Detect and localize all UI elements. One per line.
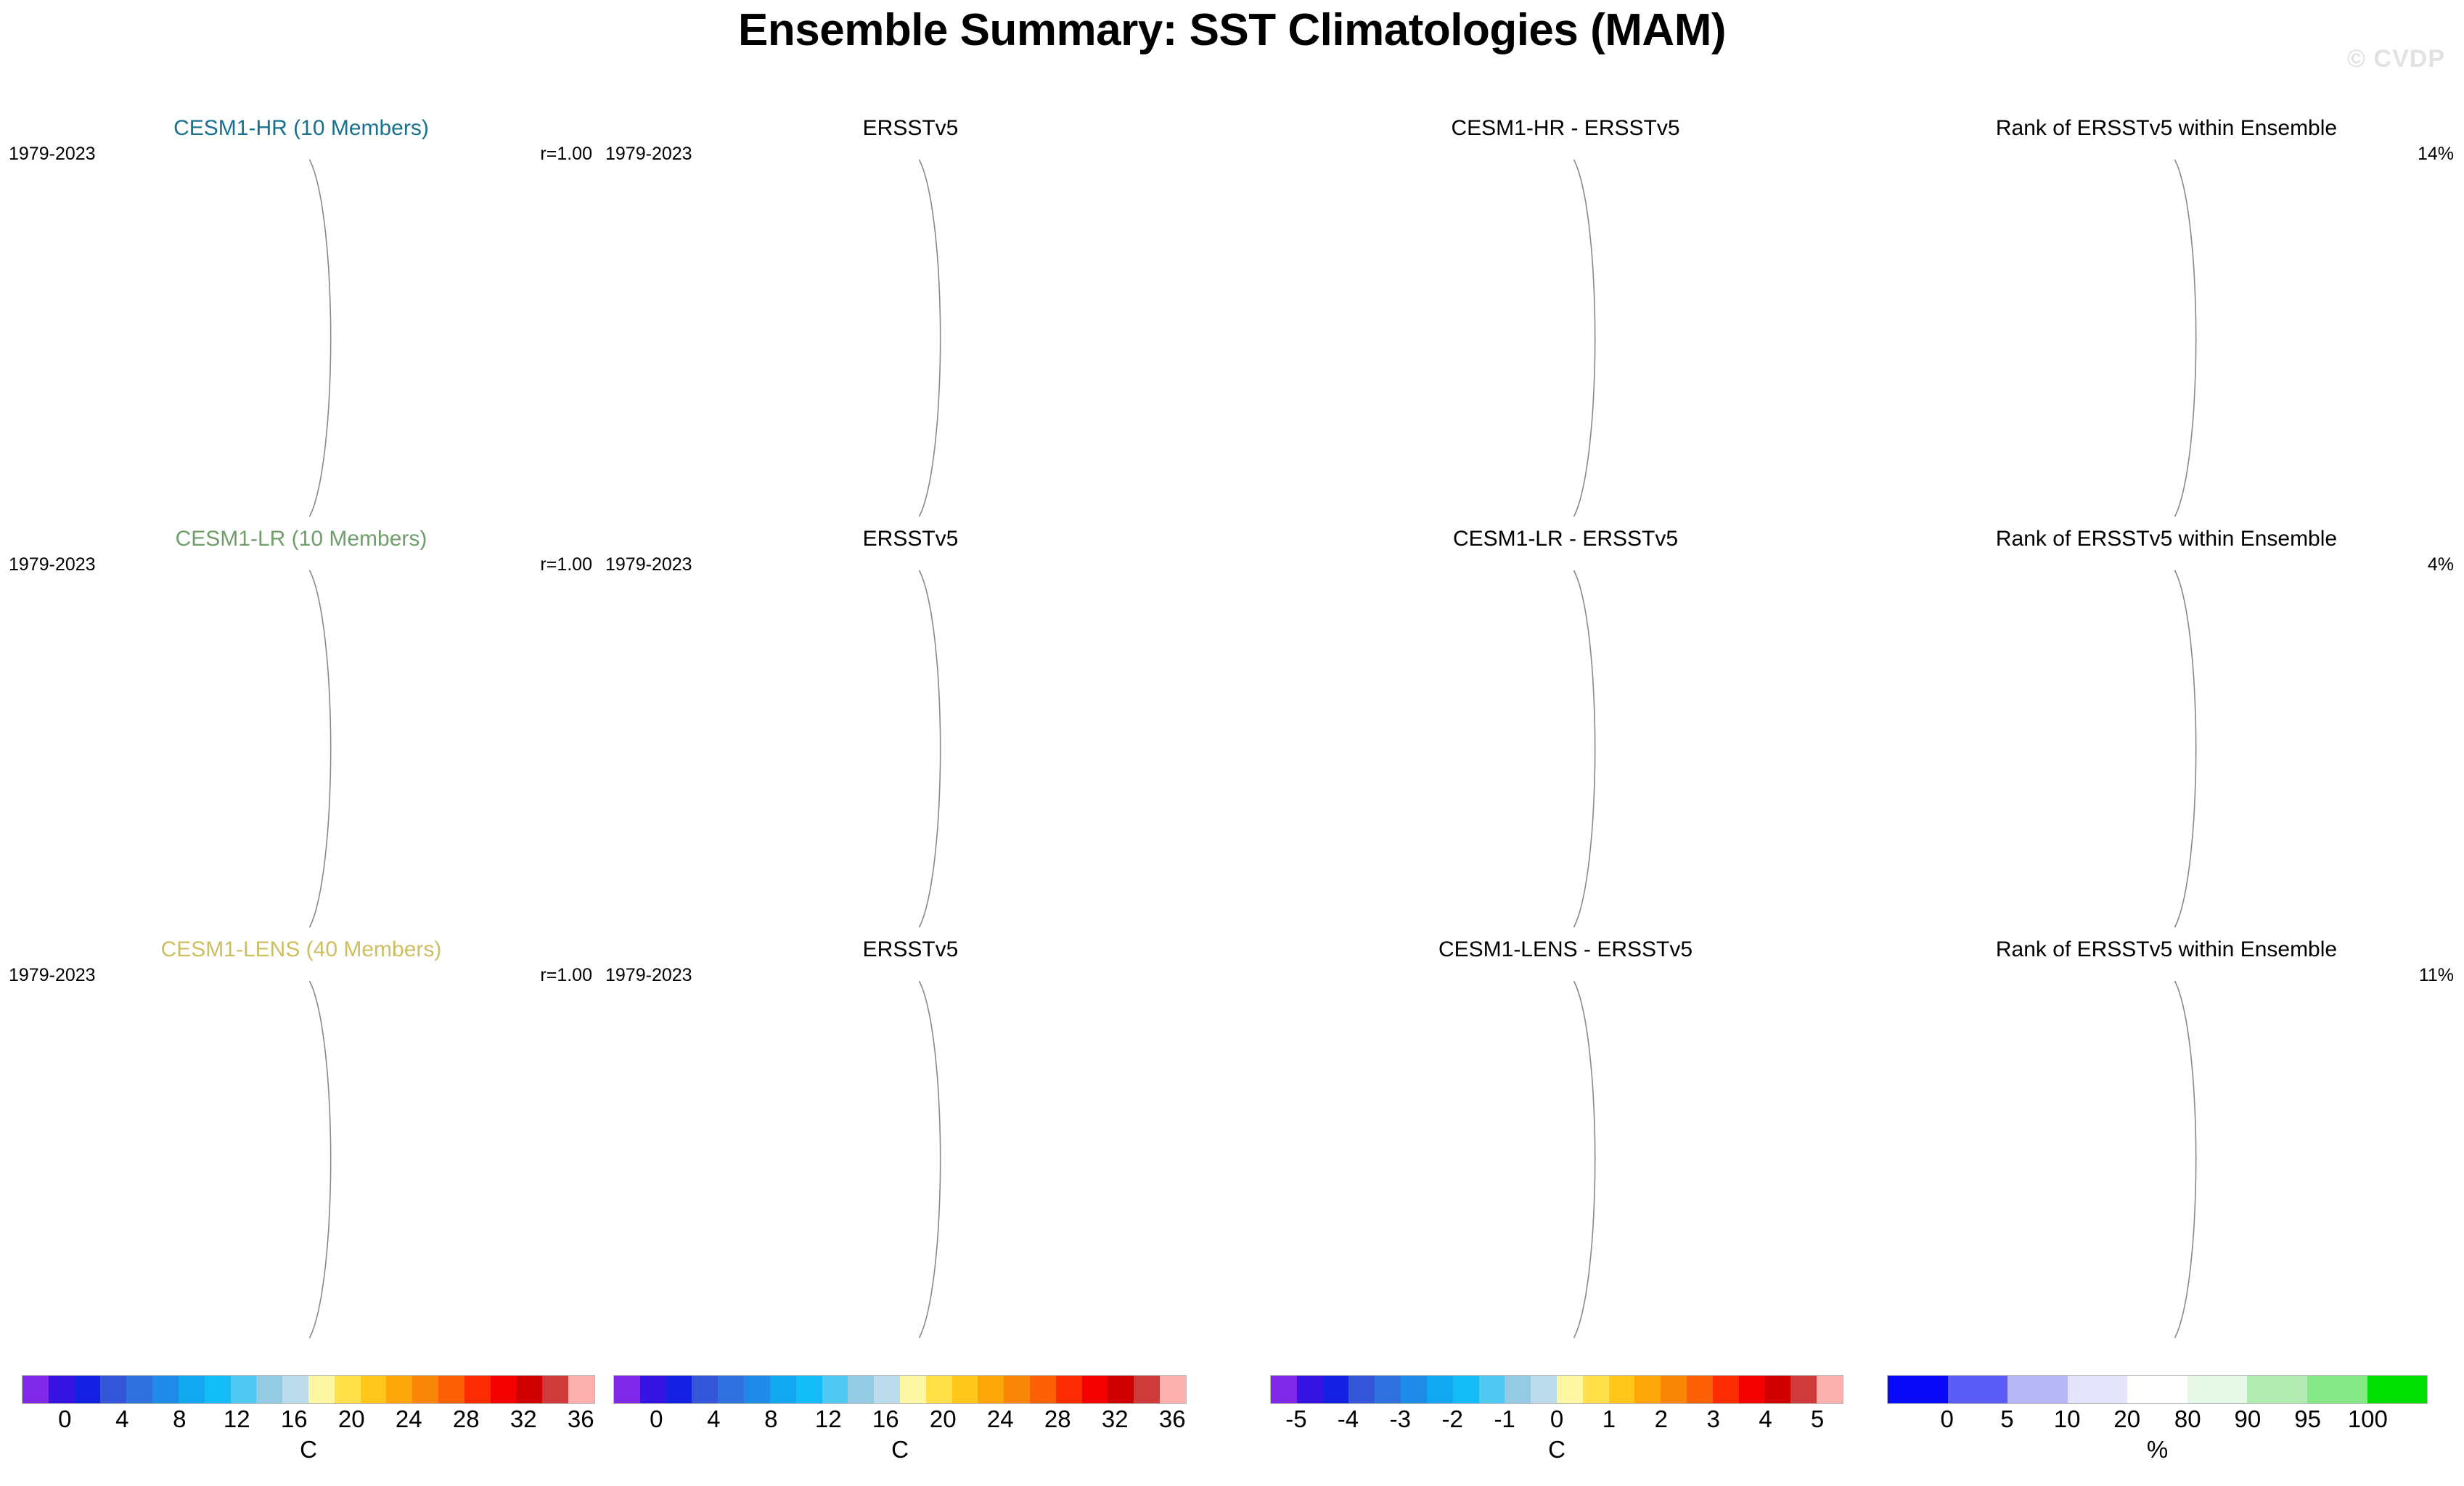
colorbar-strip-sst-difference xyxy=(1270,1375,1843,1404)
panel-lr-obs: ERSSTv51979-2023 xyxy=(604,527,1217,937)
panel-lens-obs: ERSSTv51979-2023 xyxy=(604,937,1217,1348)
colorbar-tick-label: 5 xyxy=(1811,1405,1824,1433)
colorbar-swatch xyxy=(1134,1376,1160,1403)
colorbar-swatch xyxy=(666,1376,692,1403)
colorbar-swatch xyxy=(796,1376,822,1403)
map-hr-model xyxy=(25,145,577,522)
colorbar-tick-label: 20 xyxy=(2113,1405,2140,1433)
map-lr-diff xyxy=(1290,556,1841,933)
panel-hr-obs: ERSSTv51979-2023 xyxy=(604,116,1217,527)
colorbar-ticks-sst-difference: -5-4-3-2-1012345 xyxy=(1270,1404,1843,1436)
colorbar-swatch xyxy=(1634,1376,1661,1403)
map-lr-obs xyxy=(635,556,1187,933)
colorbar-tick-label: 24 xyxy=(987,1405,1014,1433)
colorbar-swatch xyxy=(49,1376,75,1403)
colorbar-swatch xyxy=(179,1376,205,1403)
colorbar-swatch xyxy=(2127,1376,2187,1403)
colorbar-swatch xyxy=(1687,1376,1713,1403)
colorbar-swatch xyxy=(952,1376,978,1403)
colorbar-swatch xyxy=(152,1376,179,1403)
colorbar-tick-label: 28 xyxy=(1044,1405,1071,1433)
colorbar-swatch xyxy=(2187,1376,2248,1403)
colorbar-swatch xyxy=(1531,1376,1557,1403)
colorbar-swatch xyxy=(978,1376,1004,1403)
colorbar-swatch xyxy=(1583,1376,1609,1403)
panel-title-hr-model: CESM1-HR (10 Members) xyxy=(7,116,595,141)
colorbar-tick-label: 3 xyxy=(1706,1405,1719,1433)
colorbar-swatch xyxy=(2367,1376,2428,1403)
colorbar-unit-rank-percentile: % xyxy=(1887,1436,2428,1464)
colorbar-swatch xyxy=(1082,1376,1108,1403)
colorbar-swatch xyxy=(1401,1376,1427,1403)
panel-title-lens-rank: Rank of ERSSTv5 within Ensemble xyxy=(1876,937,2457,962)
colorbar-swatch xyxy=(282,1376,308,1403)
colorbar-sst-difference: -5-4-3-2-1012345C xyxy=(1270,1375,1843,1436)
colorbar-swatch xyxy=(2247,1376,2307,1403)
colorbar-swatch xyxy=(1160,1376,1186,1403)
colorbar-swatch xyxy=(438,1376,464,1403)
colorbar-swatch xyxy=(926,1376,952,1403)
colorbar-tick-label: 12 xyxy=(224,1405,250,1433)
colorbar-tick-label: 32 xyxy=(510,1405,537,1433)
colorbar-swatch xyxy=(205,1376,231,1403)
page-title: Ensemble Summary: SST Climatologies (MAM… xyxy=(0,4,2464,56)
colorbar-swatch xyxy=(412,1376,438,1403)
panel-title-lr-diff: CESM1-LR - ERSSTv5 xyxy=(1275,527,1856,551)
colorbar-tick-label: 8 xyxy=(173,1405,186,1433)
colorbar-sst-climo-obs: 04812162024283236C xyxy=(613,1375,1187,1436)
colorbar-tick-label: -5 xyxy=(1285,1405,1306,1433)
colorbar-swatch xyxy=(1609,1376,1635,1403)
colorbar-swatch xyxy=(640,1376,666,1403)
map-hr-diff xyxy=(1290,145,1841,522)
colorbar-tick-label: 24 xyxy=(396,1405,422,1433)
panel-title-lens-obs: ERSSTv5 xyxy=(604,937,1217,962)
colorbar-tick-label: 4 xyxy=(115,1405,128,1433)
colorbar-tick-label: 0 xyxy=(58,1405,71,1433)
map-lens-obs xyxy=(635,966,1187,1344)
colorbar-swatch xyxy=(1427,1376,1453,1403)
colorbar-swatch xyxy=(1453,1376,1479,1403)
colorbar-sst-climo-left: 04812162024283236C xyxy=(22,1375,595,1436)
colorbar-swatch xyxy=(744,1376,770,1403)
panel-title-lens-diff: CESM1-LENS - ERSSTv5 xyxy=(1275,937,1856,962)
colorbar-tick-label: 4 xyxy=(1759,1405,1772,1433)
colorbar-tick-label: 12 xyxy=(815,1405,842,1433)
colorbar-strip-sst-climo-left xyxy=(22,1375,595,1404)
colorbar-swatch xyxy=(308,1376,335,1403)
colorbar-tick-label: 32 xyxy=(1102,1405,1129,1433)
colorbar-swatch xyxy=(718,1376,744,1403)
colorbar-swatch xyxy=(126,1376,152,1403)
colorbar-tick-label: 1 xyxy=(1603,1405,1616,1433)
colorbar-swatch xyxy=(491,1376,517,1403)
colorbar-tick-label: 95 xyxy=(2294,1405,2321,1433)
colorbar-tick-label: -2 xyxy=(1442,1405,1463,1433)
colorbar-tick-label: 90 xyxy=(2235,1405,2262,1433)
panel-title-lr-obs: ERSSTv5 xyxy=(604,527,1217,551)
panel-lr-rank: Rank of ERSSTv5 within Ensemble4% xyxy=(1876,527,2457,937)
colorbar-tick-label: 36 xyxy=(1159,1405,1186,1433)
panel-hr-model: CESM1-HR (10 Members)1979-2023r=1.00 xyxy=(7,116,595,527)
colorbar-swatch xyxy=(100,1376,126,1403)
colorbar-swatch xyxy=(1888,1376,1948,1403)
colorbar-swatch xyxy=(2068,1376,2128,1403)
colorbar-swatch xyxy=(1790,1376,1817,1403)
colorbar-swatch xyxy=(1323,1376,1349,1403)
colorbar-tick-label: 80 xyxy=(2174,1405,2201,1433)
colorbar-swatch xyxy=(464,1376,491,1403)
colorbar-swatch xyxy=(1004,1376,1030,1403)
colorbar-rank-percentile: 051020809095100% xyxy=(1887,1375,2428,1436)
panel-lens-rank: Rank of ERSSTv5 within Ensemble11% xyxy=(1876,937,2457,1348)
colorbar-swatch xyxy=(1948,1376,2008,1403)
colorbar-tick-label: 36 xyxy=(568,1405,594,1433)
colorbar-swatch xyxy=(874,1376,900,1403)
colorbar-swatch xyxy=(1297,1376,1323,1403)
colorbar-tick-label: 10 xyxy=(2054,1405,2081,1433)
panel-title-lens-model: CESM1-LENS (40 Members) xyxy=(7,937,595,962)
colorbar-swatch xyxy=(516,1376,542,1403)
colorbar-tick-label: -1 xyxy=(1494,1405,1515,1433)
colorbar-unit-sst-difference: C xyxy=(1270,1436,1843,1464)
panel-title-hr-obs: ERSSTv5 xyxy=(604,116,1217,141)
cvdp-watermark: © CVDP xyxy=(2347,45,2445,73)
colorbar-swatch xyxy=(1348,1376,1375,1403)
map-lens-diff xyxy=(1290,966,1841,1344)
colorbar-swatch xyxy=(231,1376,257,1403)
panel-hr-diff: CESM1-HR - ERSSTv5 xyxy=(1275,116,1856,527)
map-lens-model xyxy=(25,966,577,1344)
colorbar-ticks-sst-climo-obs: 04812162024283236 xyxy=(613,1404,1187,1436)
colorbar-tick-label: 28 xyxy=(453,1405,480,1433)
colorbar-swatch xyxy=(1056,1376,1082,1403)
panel-lr-model: CESM1-LR (10 Members)1979-2023r=1.00 xyxy=(7,527,595,937)
colorbar-tick-label: 20 xyxy=(930,1405,957,1433)
colorbar-unit-sst-climo-obs: C xyxy=(613,1436,1187,1464)
colorbar-swatch xyxy=(1505,1376,1531,1403)
colorbar-swatch xyxy=(1557,1376,1583,1403)
colorbar-swatch xyxy=(361,1376,387,1403)
colorbar-swatch xyxy=(1108,1376,1134,1403)
panel-lr-diff: CESM1-LR - ERSSTv5 xyxy=(1275,527,1856,937)
colorbar-tick-label: 0 xyxy=(1550,1405,1563,1433)
colorbar-tick-label: 2 xyxy=(1655,1405,1668,1433)
colorbar-unit-sst-climo-left: C xyxy=(22,1436,595,1464)
panel-lens-model: CESM1-LENS (40 Members)1979-2023r=1.00 xyxy=(7,937,595,1348)
panel-hr-rank: Rank of ERSSTv5 within Ensemble14% xyxy=(1876,116,2457,527)
colorbar-swatch xyxy=(1375,1376,1401,1403)
colorbar-ticks-sst-climo-left: 04812162024283236 xyxy=(22,1404,595,1436)
colorbar-swatch xyxy=(22,1376,49,1403)
map-lr-rank xyxy=(1891,556,2442,933)
colorbar-swatch xyxy=(900,1376,926,1403)
colorbar-tick-label: -3 xyxy=(1390,1405,1411,1433)
colorbar-ticks-rank-percentile: 051020809095100 xyxy=(1887,1404,2428,1436)
colorbar-tick-label: 0 xyxy=(650,1405,663,1433)
colorbar-swatch xyxy=(568,1376,594,1403)
panel-title-lr-model: CESM1-LR (10 Members) xyxy=(7,527,595,551)
colorbar-tick-label: 100 xyxy=(2348,1405,2388,1433)
colorbar-swatch xyxy=(692,1376,718,1403)
colorbar-tick-label: 8 xyxy=(764,1405,777,1433)
map-hr-rank xyxy=(1891,145,2442,522)
colorbar-strip-sst-climo-obs xyxy=(613,1375,1187,1404)
colorbar-swatch xyxy=(848,1376,874,1403)
colorbar-swatch xyxy=(1739,1376,1765,1403)
colorbar-tick-label: 16 xyxy=(872,1405,899,1433)
colorbar-swatch xyxy=(1713,1376,1739,1403)
colorbar-tick-label: 5 xyxy=(2000,1405,2013,1433)
colorbar-strip-rank-percentile xyxy=(1887,1375,2428,1404)
colorbar-swatch xyxy=(1030,1376,1056,1403)
colorbar-swatch xyxy=(1764,1376,1790,1403)
colorbar-swatch xyxy=(822,1376,848,1403)
colorbar-swatch xyxy=(614,1376,640,1403)
colorbar-swatch xyxy=(1479,1376,1505,1403)
colorbar-swatch xyxy=(386,1376,412,1403)
colorbar-swatch xyxy=(770,1376,796,1403)
map-lens-rank xyxy=(1891,966,2442,1344)
colorbar-swatch xyxy=(75,1376,101,1403)
panel-lens-diff: CESM1-LENS - ERSSTv5 xyxy=(1275,937,1856,1348)
colorbar-tick-label: 20 xyxy=(338,1405,365,1433)
colorbar-swatch xyxy=(1817,1376,1843,1403)
panel-title-hr-diff: CESM1-HR - ERSSTv5 xyxy=(1275,116,1856,141)
colorbar-tick-label: 16 xyxy=(281,1405,308,1433)
colorbar-swatch xyxy=(335,1376,361,1403)
colorbar-tick-label: -4 xyxy=(1338,1405,1359,1433)
map-hr-obs xyxy=(635,145,1187,522)
colorbar-swatch xyxy=(542,1376,568,1403)
colorbar-tick-label: 4 xyxy=(707,1405,720,1433)
colorbar-swatch xyxy=(1271,1376,1297,1403)
map-lr-model xyxy=(25,556,577,933)
colorbar-swatch xyxy=(2007,1376,2068,1403)
colorbar-swatch xyxy=(1661,1376,1687,1403)
colorbar-tick-label: 0 xyxy=(1941,1405,1954,1433)
colorbar-swatch xyxy=(256,1376,282,1403)
panel-title-hr-rank: Rank of ERSSTv5 within Ensemble xyxy=(1876,116,2457,141)
panel-title-lr-rank: Rank of ERSSTv5 within Ensemble xyxy=(1876,527,2457,551)
colorbar-swatch xyxy=(2307,1376,2367,1403)
